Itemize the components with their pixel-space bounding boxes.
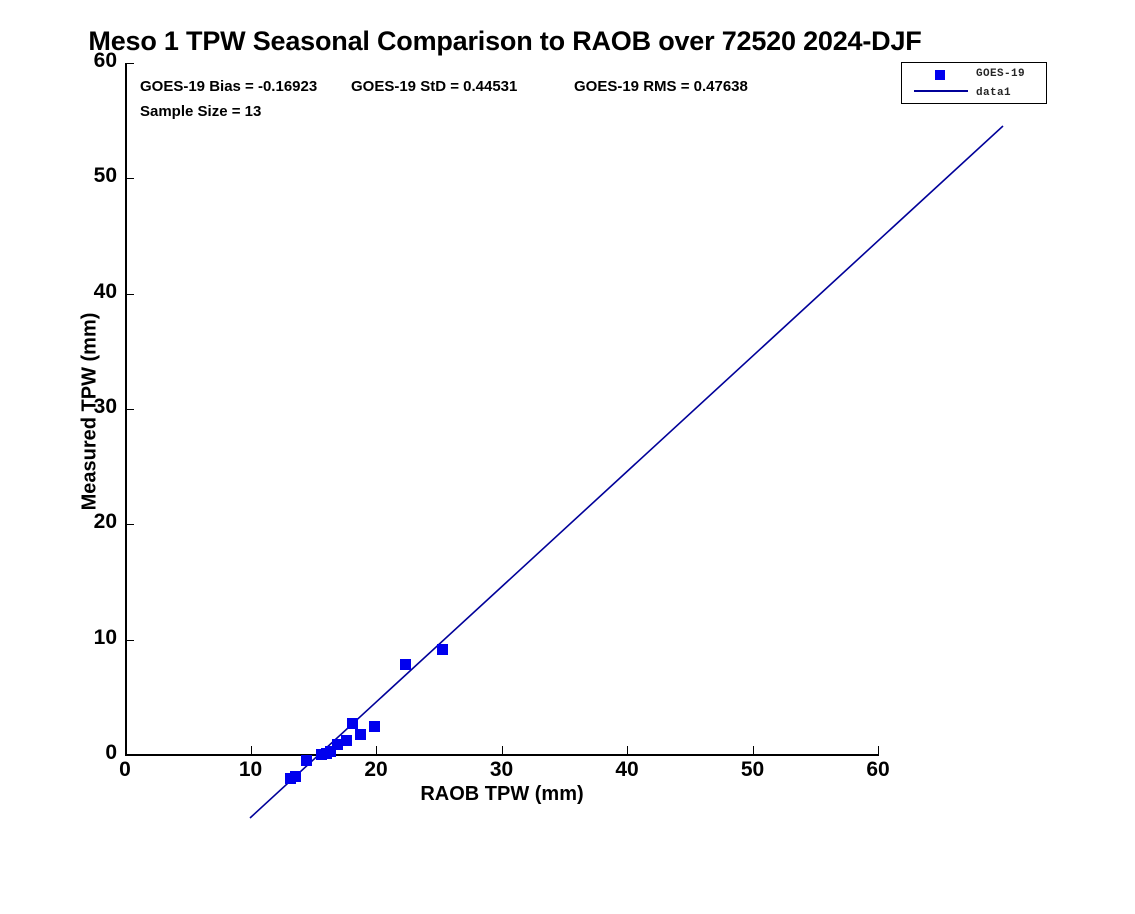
y-axis-tick — [126, 409, 134, 410]
y-axis-label: Measured TPW (mm) — [79, 62, 102, 762]
plot-area — [125, 63, 878, 755]
scatter-point — [332, 739, 343, 750]
y-axis-tick — [126, 524, 134, 525]
scatter-point — [400, 659, 411, 670]
x-axis-tick — [125, 746, 126, 754]
legend-marker-swatch-icon — [935, 70, 945, 80]
scatter-point — [437, 644, 448, 655]
scatter-point — [301, 755, 312, 766]
y-axis-tick — [126, 640, 134, 641]
scatter-point — [347, 718, 358, 729]
legend[interactable]: GOES-19 data1 — [901, 62, 1047, 104]
figure-canvas: Meso 1 TPW Seasonal Comparison to RAOB o… — [0, 0, 1135, 851]
x-axis-tick-label: 30 — [472, 758, 532, 782]
y-axis-tick — [126, 178, 134, 179]
x-axis-tick-label: 20 — [346, 758, 406, 782]
x-axis-tick — [878, 746, 879, 754]
legend-label-goes19: GOES-19 — [976, 68, 1025, 80]
x-axis-tick-label: 50 — [723, 758, 783, 782]
x-axis-tick — [251, 746, 252, 754]
scatter-point — [290, 771, 301, 782]
y-axis-tick — [126, 294, 134, 295]
identity-line — [250, 126, 1003, 818]
legend-line-swatch-icon — [914, 90, 968, 92]
scatter-point — [369, 721, 380, 732]
x-axis-tick-label: 60 — [848, 758, 908, 782]
x-axis-tick — [753, 746, 754, 754]
page-title: Meso 1 TPW Seasonal Comparison to RAOB o… — [0, 26, 1010, 57]
legend-label-data1: data1 — [976, 87, 1011, 99]
x-axis-tick-label: 40 — [597, 758, 657, 782]
x-axis-tick-label: 10 — [221, 758, 281, 782]
x-axis-tick — [502, 746, 503, 754]
x-axis-label: RAOB TPW (mm) — [125, 783, 879, 806]
scatter-point — [355, 729, 366, 740]
x-axis-tick — [376, 746, 377, 754]
x-axis-tick — [627, 746, 628, 754]
y-axis-tick — [126, 63, 134, 64]
